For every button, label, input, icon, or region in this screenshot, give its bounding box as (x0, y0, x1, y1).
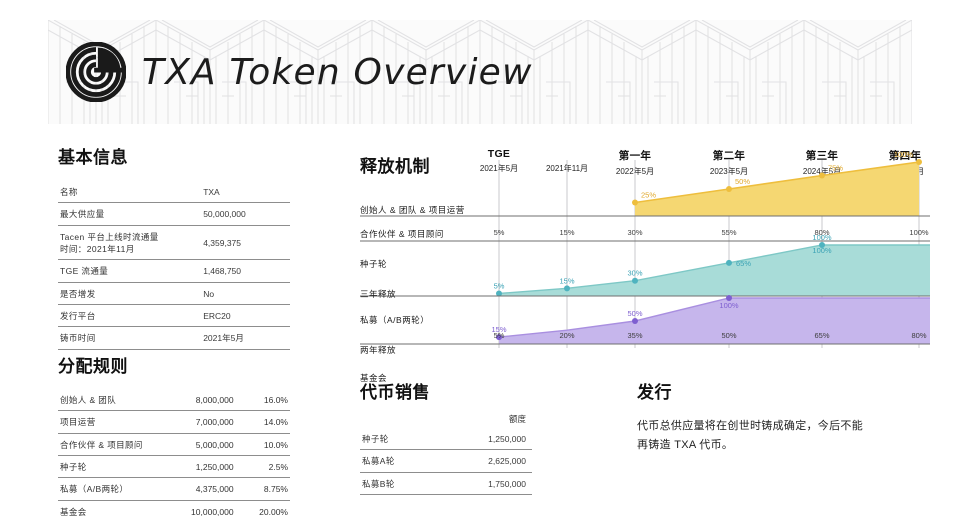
allocation-percent: 14.0% (244, 411, 290, 433)
txa-spiral-logo-icon (66, 42, 126, 102)
table-row: 创始人 & 团队8,000,00016.0% (58, 389, 290, 411)
table-row: 种子轮1,250,0002.5% (58, 455, 290, 477)
basic-info-label: 最大供应量 (58, 203, 197, 225)
release-row-label: 两年释放 (360, 344, 396, 356)
allocation-label: 合作伙伴 & 项目顾问 (58, 433, 174, 455)
allocation-percent: 2.5% (244, 455, 290, 477)
allocation-percent: 8.75% (244, 478, 290, 500)
table-row: 名称TXA (58, 181, 290, 203)
allocation-amount: 10,000,000 (174, 500, 244, 517)
table-row: 私募A轮2,625,000 (360, 450, 532, 472)
table-row: 种子轮1,250,000 (360, 428, 532, 450)
svg-text:35%: 35% (627, 331, 642, 340)
svg-text:5%: 5% (494, 281, 505, 290)
release-row-label: 创始人 & 团队 & 项目运营 (360, 204, 465, 216)
basic-info-section: 基本信息 名称TXA最大供应量50,000,000Tacen 平台上线时流通量时… (58, 143, 290, 350)
svg-text:15%: 15% (559, 228, 574, 237)
basic-info-label: 铸币时间 (58, 327, 197, 349)
table-row: 私募（A/B两轮）4,375,0008.75% (58, 478, 290, 500)
table-row: 基金会10,000,00020.00% (58, 500, 290, 517)
allocation-amount: 5,000,000 (174, 433, 244, 455)
issuance-heading: 发行 (637, 378, 867, 403)
svg-text:25%: 25% (641, 191, 656, 200)
basic-info-value: 1,468,750 (197, 260, 290, 282)
allocation-amount: 8,000,000 (174, 389, 244, 411)
svg-text:80%: 80% (911, 331, 926, 340)
svg-text:75%: 75% (828, 164, 843, 173)
token-sale-amount-header: 额度 (360, 413, 532, 428)
issuance-body: 代币总供应量将在创世时铸成确定，今后不能再铸造 TXA 代币。 (637, 417, 867, 456)
basic-info-value: ERC20 (197, 304, 290, 326)
table-row: 合作伙伴 & 项目顾问5,000,00010.0% (58, 433, 290, 455)
allocation-amount: 7,000,000 (174, 411, 244, 433)
svg-text:100%: 100% (894, 150, 914, 159)
svg-text:65%: 65% (814, 331, 829, 340)
token-sale-label: 私募A轮 (360, 450, 449, 472)
token-sale-amount: 1,750,000 (449, 472, 532, 494)
basic-info-value: No (197, 282, 290, 304)
token-sale-table: 种子轮1,250,000私募A轮2,625,000私募B轮1,750,000 (360, 428, 532, 495)
basic-info-value: 50,000,000 (197, 203, 290, 225)
token-sale-label: 种子轮 (360, 428, 449, 450)
allocation-label: 基金会 (58, 500, 174, 517)
allocation-label: 私募（A/B两轮） (58, 478, 174, 500)
svg-text:50%: 50% (735, 177, 750, 186)
allocation-percent: 10.0% (244, 433, 290, 455)
svg-text:15%: 15% (559, 276, 574, 285)
allocation-amount: 4,375,000 (174, 478, 244, 500)
basic-info-label: 是否增发 (58, 282, 197, 304)
svg-text:100%: 100% (909, 228, 929, 237)
allocation-label: 种子轮 (58, 455, 174, 477)
basic-info-table: 名称TXA最大供应量50,000,000Tacen 平台上线时流通量时间：202… (58, 181, 290, 350)
issuance-section: 发行 代币总供应量将在创世时铸成确定，今后不能再铸造 TXA 代币。 (637, 378, 867, 456)
basic-info-label: TGE 流通量 (58, 260, 197, 282)
token-sale-amount: 1,250,000 (449, 428, 532, 450)
allocation-label: 项目运营 (58, 411, 174, 433)
allocation-label: 创始人 & 团队 (58, 389, 174, 411)
release-area-chart: 25%50%75%100%5%15%30%55%80%100%5%15%30%6… (360, 148, 930, 348)
release-row-label: 合作伙伴 & 项目顾问 (360, 228, 444, 240)
svg-text:100%: 100% (812, 233, 832, 242)
svg-text:20%: 20% (559, 331, 574, 340)
table-row: TGE 流通量1,468,750 (58, 260, 290, 282)
basic-info-label: 名称 (58, 181, 197, 203)
table-row: 最大供应量50,000,000 (58, 203, 290, 225)
allocation-heading: 分配规则 (58, 352, 290, 377)
allocation-amount: 1,250,000 (174, 455, 244, 477)
svg-text:5%: 5% (494, 331, 505, 340)
basic-info-value: 4,359,375 (197, 225, 290, 260)
token-sale-label: 私募B轮 (360, 472, 449, 494)
table-row: 发行平台ERC20 (58, 304, 290, 326)
svg-text:50%: 50% (627, 309, 642, 318)
table-row: 铸币时间2021年5月 (58, 327, 290, 349)
basic-info-value: 2021年5月 (197, 327, 290, 349)
table-row: 私募B轮1,750,000 (360, 472, 532, 494)
table-row: 项目运营7,000,00014.0% (58, 411, 290, 433)
basic-info-label: Tacen 平台上线时流通量时间：2021年11月 (58, 225, 197, 260)
table-row: Tacen 平台上线时流通量时间：2021年11月4,359,375 (58, 225, 290, 260)
token-sale-amount: 2,625,000 (449, 450, 532, 472)
svg-text:100%: 100% (812, 246, 832, 255)
svg-text:50%: 50% (721, 331, 736, 340)
slide-root: TXA Token Overview 基本信息 名称TXA最大供应量50,000… (0, 0, 960, 517)
basic-info-label: 发行平台 (58, 304, 197, 326)
page-header: TXA Token Overview (48, 20, 912, 124)
release-row-label: 私募（A/B两轮） (360, 314, 429, 326)
svg-text:100%: 100% (719, 301, 739, 310)
basic-info-heading: 基本信息 (58, 143, 290, 168)
allocation-percent: 20.00% (244, 500, 290, 517)
table-row: 是否增发No (58, 282, 290, 304)
page-title: TXA Token Overview (142, 52, 533, 93)
header-content: TXA Token Overview (66, 20, 533, 124)
allocation-section: 分配规则 创始人 & 团队8,000,00016.0%项目运营7,000,000… (58, 352, 290, 517)
svg-text:30%: 30% (627, 228, 642, 237)
token-sale-section: 代币销售 额度 种子轮1,250,000私募A轮2,625,000私募B轮1,7… (360, 378, 532, 495)
token-sale-heading: 代币销售 (360, 378, 532, 403)
allocation-percent: 16.0% (244, 389, 290, 411)
svg-text:55%: 55% (721, 228, 736, 237)
svg-text:30%: 30% (627, 269, 642, 278)
svg-text:5%: 5% (494, 228, 505, 237)
allocation-table: 创始人 & 团队8,000,00016.0%项目运营7,000,00014.0%… (58, 389, 290, 517)
svg-text:65%: 65% (736, 259, 751, 268)
release-row-label: 种子轮 (360, 258, 387, 270)
basic-info-value: TXA (197, 181, 290, 203)
release-row-label: 三年释放 (360, 288, 396, 300)
release-schedule-section: 释放机制 TGE2021年5月 2021年11月第一年2022年5月第二年202… (360, 148, 930, 348)
